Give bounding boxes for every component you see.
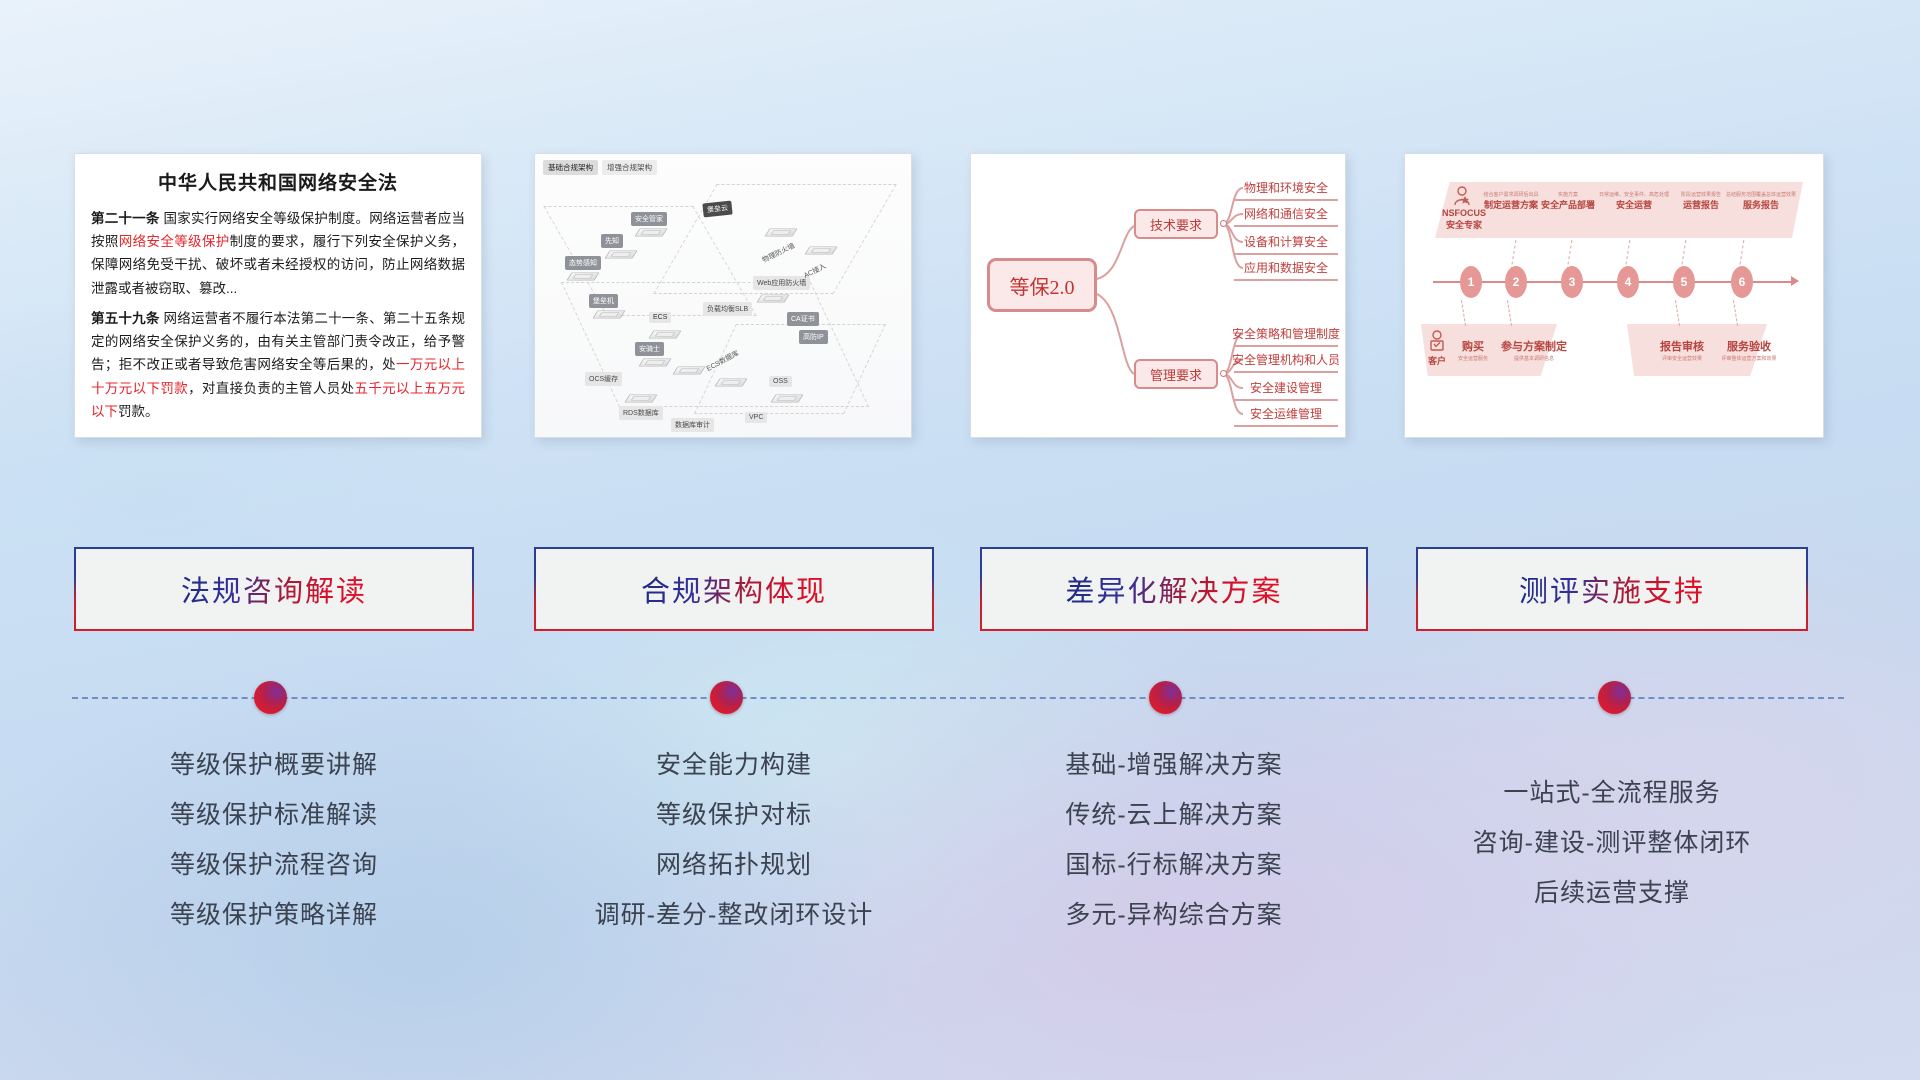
timeline-bottom-item-1: 购买 安全运营服务 (1449, 338, 1497, 362)
section-title-2-text: 合规架构体现 (641, 568, 827, 610)
architecture-tabs[interactable]: 基础合规架构 增强合规架构 (543, 160, 657, 175)
security-expert-icon (1451, 186, 1473, 206)
law-article-59-label: 第五十九条 (91, 311, 160, 326)
timeline-connector-bottom-2 (1507, 300, 1512, 326)
architecture-node-ecs: ECS (649, 312, 671, 323)
timeline-bottom-item-2-sub: 提供基本调研信息 (1495, 355, 1573, 362)
list-item: 咨询-建设-测评整体闭环 (1416, 818, 1808, 868)
architecture-node-rds: RDS数据库 (619, 406, 663, 420)
list-item: 等级保护对标 (534, 790, 934, 840)
expert-label: NSFOCUS 安全专家 (1437, 208, 1491, 231)
mindmap-leaf-device-security: 设备和计算安全 (1234, 230, 1338, 255)
architecture-node-slb: 负载均衡SLB (703, 302, 752, 316)
timeline-bottom-item-5-sub: 评审安全运营效果 (1651, 355, 1713, 362)
expert-sub-text: 安全专家 (1437, 218, 1491, 231)
timeline-rail-dot-3[interactable] (1149, 681, 1182, 714)
list-item: 后续运营支撑 (1416, 868, 1808, 918)
law-article-21-highlight: 网络安全等级保护 (119, 234, 230, 249)
mindmap-leaf-security-operation: 安全运维管理 (1234, 402, 1338, 427)
section-list-1: 等级保护概要讲解 等级保护标准解读 等级保护流程咨询 等级保护策略详解 (74, 740, 474, 940)
architecture-node-gaofangip: 高防IP (799, 330, 828, 344)
architecture-node-dbaudit: 数据库审计 (671, 418, 714, 432)
timeline-step-4[interactable]: 4 (1617, 266, 1639, 298)
customer-icon (1427, 330, 1447, 352)
architecture-node-ca: CA证书 (787, 312, 819, 326)
mindmap-leaf-security-org: 安全管理机构和人员 (1234, 348, 1338, 373)
list-item: 等级保护策略详解 (74, 890, 474, 940)
timeline-bottom-item-1-sub: 安全运营服务 (1449, 355, 1497, 362)
customer-label: 客户 (1423, 354, 1451, 367)
list-item: 传统-云上解决方案 (980, 790, 1368, 840)
timeline-top-item-5-sub: 总结服务范围覆盖总体运营效果 (1717, 191, 1805, 198)
mindmap-collapse-dot-management[interactable] (1220, 370, 1227, 377)
list-item: 安全能力构建 (534, 740, 934, 790)
law-article-59: 第五十九条 网络运营者不履行本法第二十一条、第二十五条规定的网络安全保护义务的，… (91, 307, 465, 423)
timeline-rail-dot-4[interactable] (1598, 681, 1631, 714)
law-article-59-text-c: 罚款。 (118, 404, 159, 419)
mindmap-leaf-security-construction: 安全建设管理 (1234, 376, 1338, 401)
mindmap-branch-management: 管理要求 (1134, 359, 1218, 389)
timeline-connector-bottom-1 (1461, 300, 1466, 326)
card-service-timeline[interactable]: NSFOCUS 安全专家 结合客户需求调研后出具 制定运营方案 实施方案 安全产… (1404, 153, 1824, 438)
architecture-node-baoleiyun: 堡垒云 (702, 201, 732, 218)
timeline-bottom-item-2-title: 参与方案制定 (1495, 338, 1573, 354)
section-titles-row: 法规咨询解读 合规架构体现 差异化解决方案 测评实施支持 (0, 547, 1920, 657)
timeline-top-item-5: 总结服务范围覆盖总体运营效果 服务报告 (1717, 190, 1805, 211)
timeline-bottom-item-6-title: 服务验收 (1713, 338, 1785, 354)
list-item: 等级保护标准解读 (74, 790, 474, 840)
mindmap-leaf-network-security: 网络和通信安全 (1234, 202, 1338, 227)
timeline-connector-bottom-4 (1733, 300, 1738, 326)
section-title-box-3[interactable]: 差异化解决方案 (980, 547, 1368, 631)
list-item: 一站式-全流程服务 (1416, 768, 1808, 818)
card-mindmap-dengbao[interactable]: 等保2.0 技术要求 物理和环境安全 网络和通信安全 设备和计算安全 应用和数据… (970, 153, 1346, 438)
law-article-59-text-b: ，对直接负责的主管人员处 (188, 381, 354, 396)
section-list-4: 一站式-全流程服务 咨询-建设-测评整体闭环 后续运营支撑 (1416, 768, 1808, 918)
timeline-bottom-item-1-title: 购买 (1449, 338, 1497, 354)
law-article-21: 第二十一条 国家实行网络安全等级保护制度。网络运营者应当按照网络安全等级保护制度… (91, 207, 465, 300)
mindmap-leaf-security-policy: 安全策略和管理制度 (1234, 322, 1338, 347)
timeline-bottom-item-5: 报告审核 评审安全运营效果 (1651, 338, 1713, 362)
service-timeline-diagram: NSFOCUS 安全专家 结合客户需求调研后出具 制定运营方案 实施方案 安全产… (1405, 154, 1823, 437)
timeline-bottom-item-5-title: 报告审核 (1651, 338, 1713, 354)
timeline-step-2[interactable]: 2 (1505, 266, 1527, 298)
timeline-top-item-5-title: 服务报告 (1717, 198, 1805, 211)
architecture-tab-enhanced[interactable]: 增强合规架构 (602, 160, 657, 175)
timeline-step-5[interactable]: 5 (1673, 266, 1695, 298)
timeline-connector-bottom-3 (1675, 300, 1680, 326)
architecture-node-vpc: VPC (745, 412, 767, 423)
section-title-1-text: 法规咨询解读 (181, 568, 367, 610)
architecture-node-oss: OSS (769, 376, 792, 387)
mindmap-collapse-dot-technical[interactable] (1220, 220, 1227, 227)
mindmap-root-node: 等保2.0 (987, 258, 1097, 312)
law-article-21-label: 第二十一条 (91, 211, 160, 226)
section-title-3-text: 差异化解决方案 (1065, 568, 1282, 610)
preview-cards-row: 中华人民共和国网络安全法 第二十一条 国家实行网络安全等级保护制度。网络运营者应… (0, 150, 1920, 440)
architecture-diagram: 基础合规架构 增强合规架构 堡垒云 安全管家 先知 态势感知 堡垒机 ECS W… (535, 154, 911, 437)
list-item: 调研-差分-整改闭环设计 (534, 890, 934, 940)
timeline-arrow-icon (1791, 276, 1799, 286)
timeline-rail-dot-1[interactable] (254, 681, 287, 714)
mindmap-diagram: 等保2.0 技术要求 物理和环境安全 网络和通信安全 设备和计算安全 应用和数据… (971, 154, 1345, 437)
list-item: 国标-行标解决方案 (980, 840, 1368, 890)
mindmap-leaf-application-security: 应用和数据安全 (1234, 256, 1338, 281)
list-item: 等级保护流程咨询 (74, 840, 474, 890)
list-item: 多元-异构综合方案 (980, 890, 1368, 940)
section-title-box-1[interactable]: 法规咨询解读 (74, 547, 474, 631)
section-title-box-4[interactable]: 测评实施支持 (1416, 547, 1808, 631)
customer-label-text: 客户 (1423, 354, 1451, 367)
list-item: 网络拓扑规划 (534, 840, 934, 890)
timeline-step-1[interactable]: 1 (1460, 266, 1482, 298)
section-title-box-2[interactable]: 合规架构体现 (534, 547, 934, 631)
list-item: 基础-增强解决方案 (980, 740, 1368, 790)
section-title-4-text: 测评实施支持 (1519, 568, 1705, 610)
timeline-bottom-item-6: 服务验收 评审整体运营方案和效果 (1713, 338, 1785, 362)
card-compliance-architecture[interactable]: 基础合规架构 增强合规架构 堡垒云 安全管家 先知 态势感知 堡垒机 ECS W… (534, 153, 912, 438)
law-document: 中华人民共和国网络安全法 第二十一条 国家实行网络安全等级保护制度。网络运营者应… (75, 154, 481, 433)
architecture-tab-basic[interactable]: 基础合规架构 (543, 160, 598, 175)
timeline-bottom-item-2: 参与方案制定 提供基本调研信息 (1495, 338, 1573, 362)
timeline-rail (72, 697, 1844, 699)
architecture-node-ocs: OCS缓存 (585, 372, 622, 386)
card-cybersecurity-law[interactable]: 中华人民共和国网络安全法 第二十一条 国家实行网络安全等级保护制度。网络运营者应… (74, 153, 482, 438)
mindmap-leaf-physical-security: 物理和环境安全 (1234, 176, 1338, 201)
timeline-rail-dot-2[interactable] (710, 681, 743, 714)
section-list-2: 安全能力构建 等级保护对标 网络拓扑规划 调研-差分-整改闭环设计 (534, 740, 934, 940)
mindmap-branch-technical: 技术要求 (1134, 209, 1218, 239)
timeline-step-3[interactable]: 3 (1561, 266, 1583, 298)
law-title: 中华人民共和国网络安全法 (91, 168, 465, 195)
timeline-bottom-item-6-sub: 评审整体运营方案和效果 (1713, 355, 1785, 362)
section-list-3: 基础-增强解决方案 传统-云上解决方案 国标-行标解决方案 多元-异构综合方案 (980, 740, 1368, 940)
list-item: 等级保护概要讲解 (74, 740, 474, 790)
timeline-step-6[interactable]: 6 (1731, 266, 1753, 298)
